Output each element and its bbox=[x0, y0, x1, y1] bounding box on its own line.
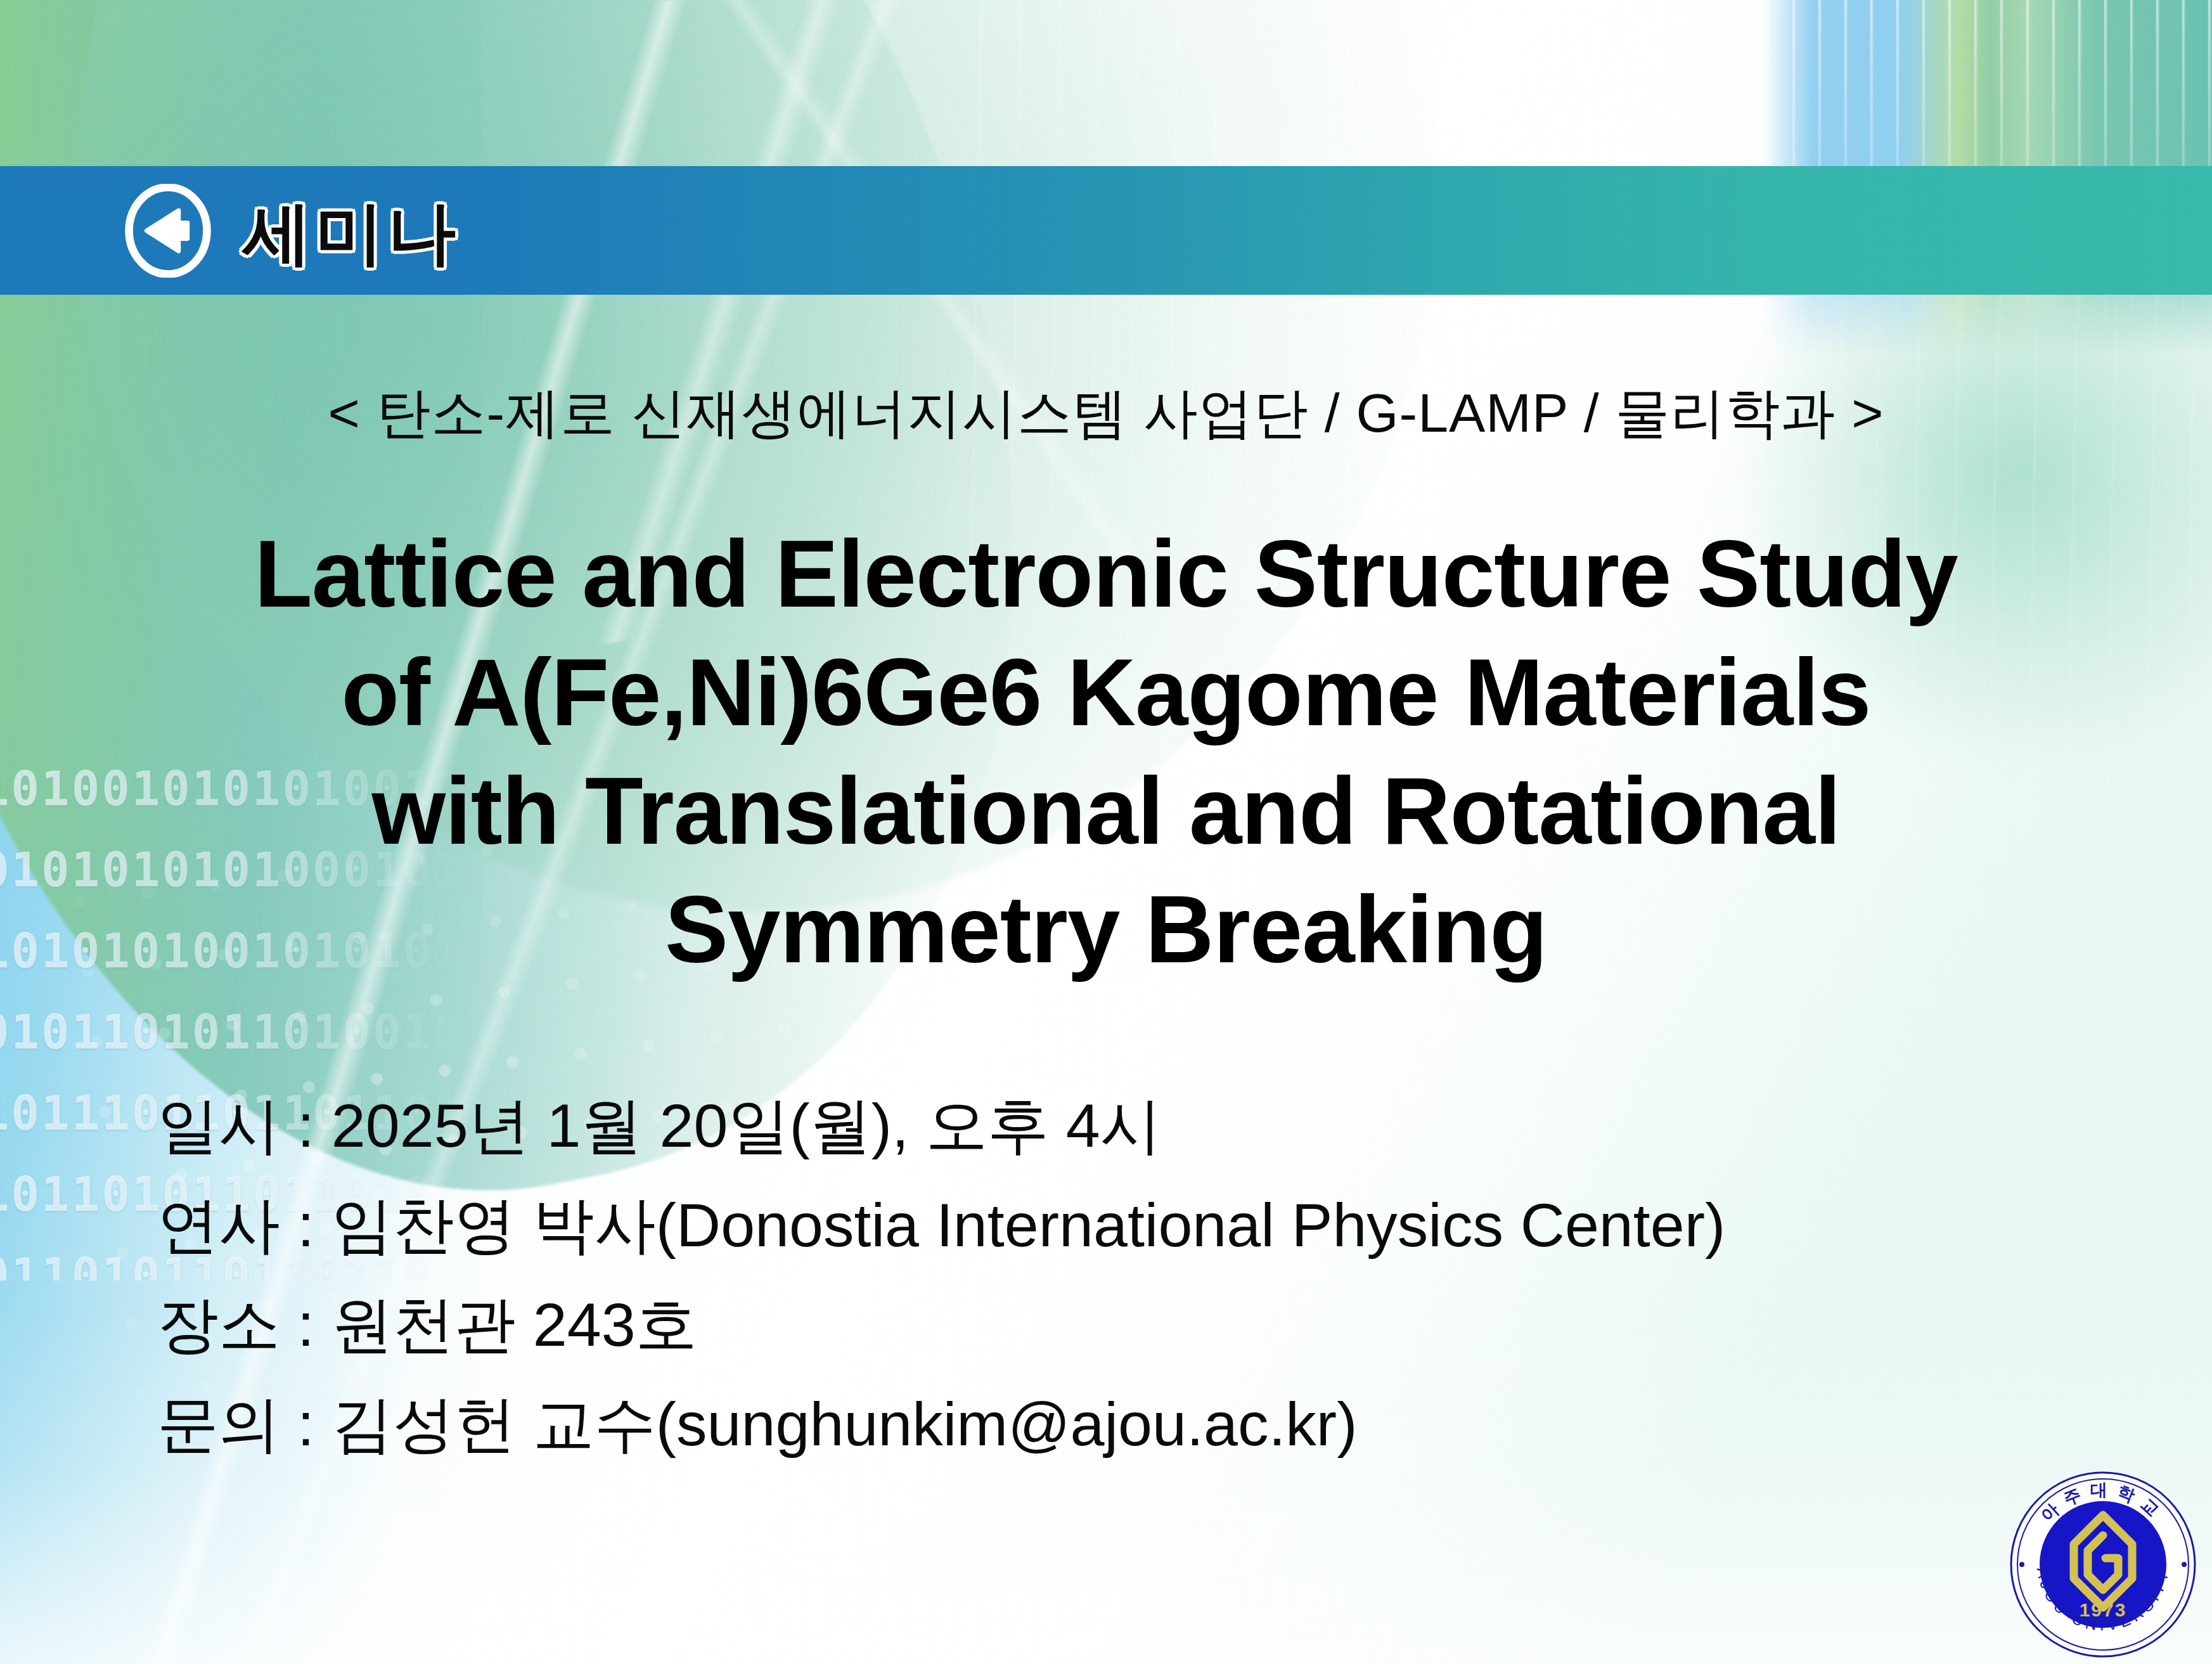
title-line-4: Symmetry Breaking bbox=[0, 870, 2212, 989]
ajou-university-logo: 1973 아주대학교 AJOU UNIVERSITY bbox=[2008, 1469, 2198, 1660]
detail-contact: 문의 : 김성헌 교수(sunghunkim@ajou.ac.kr) bbox=[157, 1374, 2122, 1474]
banner-title: 세미나 bbox=[243, 199, 460, 268]
detail-location: 장소 : 원천관 243호 bbox=[157, 1275, 2122, 1374]
back-arrow-circle-icon[interactable] bbox=[124, 184, 212, 278]
seminar-poster: 1010010101010010101101 01010101010001010… bbox=[0, 0, 2212, 1664]
page-title: Lattice and Electronic Structure Study o… bbox=[0, 515, 2212, 989]
seminar-banner: 세미나 bbox=[0, 166, 2212, 295]
seminar-details: 일시 : 2025년 1월 20일(월), 오후 4시 연사 : 임찬영 박사(… bbox=[157, 1076, 2122, 1474]
title-line-3: with Translational and Rotational bbox=[0, 752, 2212, 870]
title-line-2: of A(Fe,Ni)6Ge6 Kagome Materials bbox=[0, 633, 2212, 752]
detail-datetime: 일시 : 2025년 1월 20일(월), 오후 4시 bbox=[157, 1076, 2122, 1175]
detail-speaker: 연사 : 임찬영 박사(Donostia International Physi… bbox=[157, 1175, 2122, 1275]
organizer-subtitle: < 탄소-제로 신재생에너지시스템 사업단 / G-LAMP / 물리학과 > bbox=[0, 377, 2212, 451]
title-line-1: Lattice and Electronic Structure Study bbox=[0, 515, 2212, 633]
